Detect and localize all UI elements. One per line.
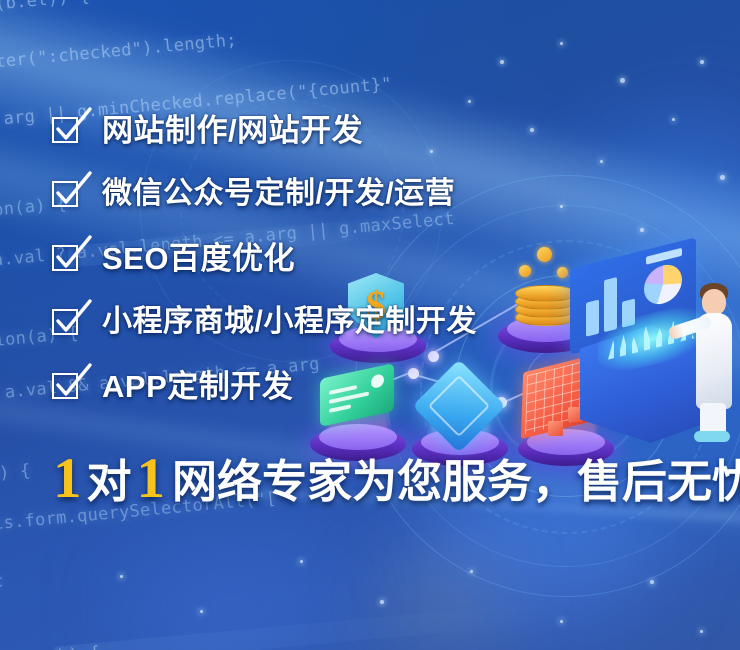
- feature-item-app[interactable]: APP定制开发: [52, 354, 477, 418]
- service-promo-banner: g.jqueryTooltip("input[type=checkbox]").…: [0, 0, 740, 650]
- code-line: e = d.filter(":checked").length;: [0, 30, 238, 80]
- feature-item-seo[interactable]: SEO百度优化: [52, 226, 477, 290]
- pie-chart-icon: [644, 261, 682, 308]
- checkbox-checked-icon[interactable]: [52, 307, 82, 337]
- feature-item-wechat[interactable]: 微信公众号定制/开发/运营: [52, 162, 477, 226]
- feature-list: 网站制作/网站开发 微信公众号定制/开发/运营 SEO百度优化: [52, 98, 477, 418]
- slogan-number-second: 1: [134, 450, 169, 507]
- technician-person-icon: [686, 275, 740, 443]
- feature-item-miniprogram[interactable]: 小程序商城/小程序定制开发: [52, 290, 477, 354]
- checkbox-checked-icon[interactable]: [52, 179, 82, 209]
- feature-label: 小程序商城/小程序定制开发: [102, 307, 477, 337]
- code-line: l == c: [0, 571, 4, 597]
- feature-item-website[interactable]: 网站制作/网站开发: [52, 98, 477, 162]
- slogan-tail-text: 网络专家为您服务，售后无忧！: [172, 459, 740, 504]
- checkbox-checked-icon[interactable]: [52, 115, 82, 145]
- feature-label: SEO百度优化: [102, 243, 295, 274]
- dashboard-console-icon: [568, 253, 740, 458]
- slogan-word-dui: 对: [85, 459, 134, 504]
- feature-label: 网站制作/网站开发: [102, 115, 363, 146]
- feature-label: 微信公众号定制/开发/运营: [102, 179, 455, 209]
- code-line: = d.index(b.el)) {: [0, 0, 91, 23]
- checkbox-checked-icon[interactable]: [52, 371, 82, 401]
- cube-icon: [548, 421, 563, 436]
- slogan-number-first: 1: [50, 450, 85, 507]
- code-line: ction(b) {: [0, 461, 32, 490]
- feature-label: APP定制开发: [102, 371, 293, 402]
- code-line: unction(a, b) {: [0, 643, 101, 650]
- checkbox-checked-icon[interactable]: [52, 243, 82, 273]
- slogan: 1 对 1 网络专家为您服务，售后无忧！: [50, 450, 740, 507]
